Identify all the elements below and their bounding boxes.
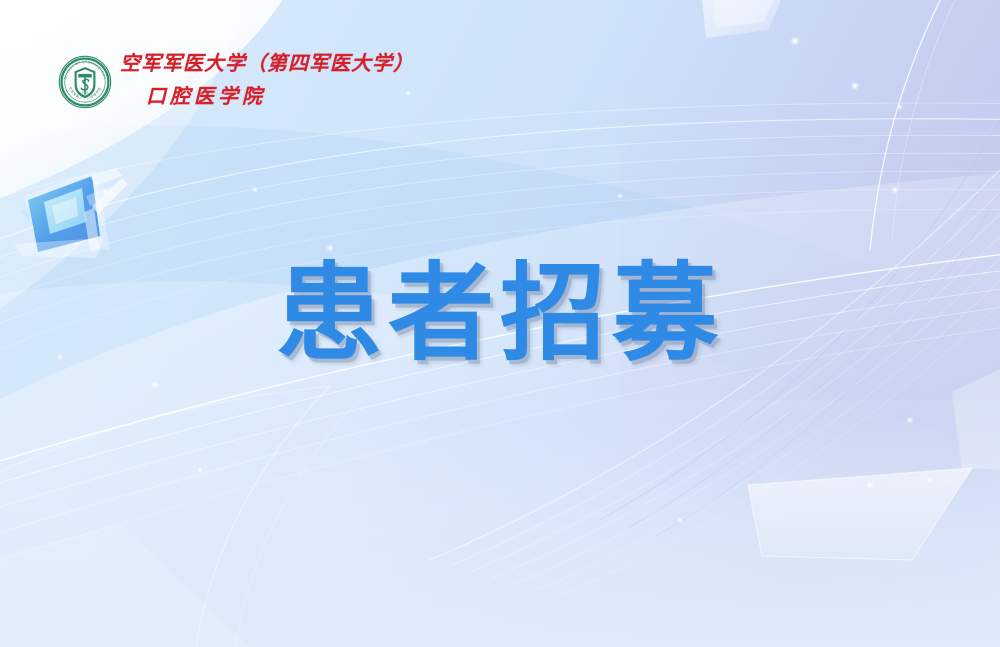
logo-text-block: 空军军医大学（第四军医大学） 口腔医学院 bbox=[120, 50, 414, 110]
title-container: 患者招募 bbox=[0, 258, 1000, 370]
svg-text:1935: 1935 bbox=[82, 91, 88, 95]
college-name: 口腔医学院 bbox=[146, 84, 266, 110]
school-of-stomatology-seal-icon: SCHOOL OF STOMATOLOGY 空军军医大学口腔医学院 1935 bbox=[58, 55, 112, 109]
university-name: 空军军医大学（第四军医大学） bbox=[120, 52, 414, 76]
university-logo: SCHOOL OF STOMATOLOGY 空军军医大学口腔医学院 1935 空… bbox=[58, 50, 414, 110]
page-title: 患者招募 bbox=[276, 258, 724, 370]
poster-canvas: SCHOOL OF STOMATOLOGY 空军军医大学口腔医学院 1935 空… bbox=[0, 0, 1000, 647]
